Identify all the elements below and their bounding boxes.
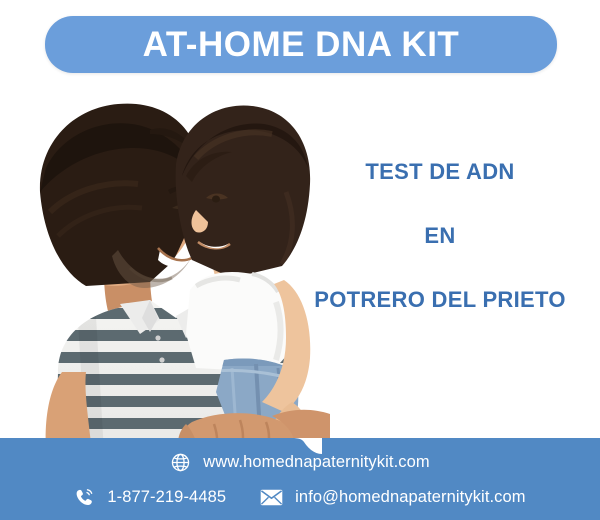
headline-line-test-de-adn: TEST DE ADN [290, 160, 590, 184]
page-title: AT-HOME DNA KIT [143, 27, 460, 62]
website-text[interactable]: www.homednapaternitykit.com [203, 453, 429, 472]
footer-contact-row: 1-877-219-4485 info@homednapaternitykit.… [0, 487, 600, 508]
headline-line-location: POTRERO DEL PRIETO [290, 288, 590, 312]
phone-group[interactable]: 1-877-219-4485 [74, 487, 226, 508]
globe-icon [170, 452, 191, 473]
header-pill: AT-HOME DNA KIT [45, 16, 557, 73]
phone-icon [74, 487, 95, 508]
envelope-icon [260, 489, 283, 506]
email-text[interactable]: info@homednapaternitykit.com [295, 488, 526, 507]
footer-bar: www.homednapaternitykit.com 1-877-219-44… [0, 438, 600, 520]
footer-website-row: www.homednapaternitykit.com [0, 452, 600, 473]
phone-text[interactable]: 1-877-219-4485 [107, 488, 226, 507]
headline-block: TEST DE ADN EN POTRERO DEL PRIETO [290, 160, 590, 313]
email-group[interactable]: info@homednapaternitykit.com [260, 488, 526, 507]
family-photo [0, 72, 330, 452]
promo-banner: AT-HOME DNA KIT [0, 0, 600, 520]
headline-line-en: EN [290, 224, 590, 248]
